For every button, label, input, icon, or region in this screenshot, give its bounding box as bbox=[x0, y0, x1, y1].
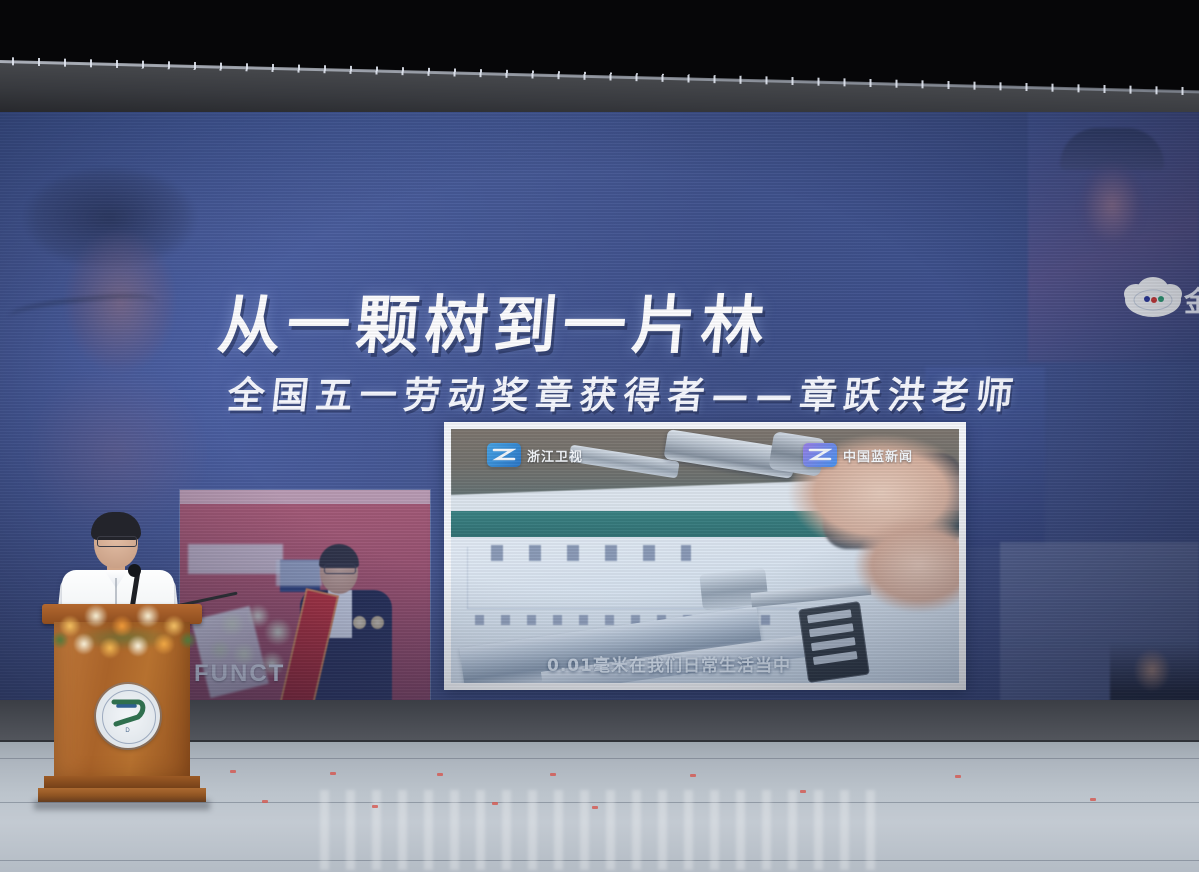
podium-shadow bbox=[34, 800, 210, 810]
stage-scene: 从一颗树到一片林 全国五一劳动奖章获得者——章跃洪老师 金 bbox=[0, 0, 1199, 872]
worker-face bbox=[1058, 130, 1166, 280]
confetti bbox=[492, 802, 498, 805]
podium-emblem: D bbox=[96, 684, 160, 748]
podium-flowers bbox=[52, 596, 200, 662]
confetti bbox=[230, 770, 236, 773]
microphone-head-icon bbox=[128, 564, 141, 577]
confetti bbox=[955, 775, 961, 778]
news-clip-card: 浙江卫视 中国蓝新闻 0.01毫米在我们日常生活当中 bbox=[444, 422, 966, 690]
confetti bbox=[690, 774, 696, 777]
confetti bbox=[437, 773, 443, 776]
confetti bbox=[372, 805, 378, 808]
confetti bbox=[550, 773, 556, 776]
confetti bbox=[592, 806, 598, 809]
cloud-icon bbox=[1122, 274, 1184, 322]
confetti bbox=[1090, 798, 1096, 801]
institution-crest-icon bbox=[108, 697, 148, 729]
presenter-glasses-icon bbox=[97, 536, 137, 547]
headline-block: 从一颗树到一片林 全国五一劳动奖章获得者——章跃洪老师 bbox=[218, 294, 1020, 419]
floor-reflection bbox=[320, 790, 880, 870]
confetti bbox=[262, 800, 268, 803]
confetti bbox=[800, 790, 806, 793]
page-title: 从一颗树到一片林 bbox=[215, 294, 1023, 357]
news-clip-frame: 浙江卫视 中国蓝新闻 0.01毫米在我们日常生活当中 bbox=[451, 429, 959, 683]
corner-logo-label: 金 bbox=[1184, 280, 1199, 320]
confetti bbox=[330, 772, 336, 775]
clip-haze-overlay bbox=[451, 429, 959, 683]
technician-figure bbox=[1110, 642, 1199, 708]
podium-emblem-text: D bbox=[96, 728, 160, 734]
speaker-podium: D bbox=[48, 604, 196, 808]
page-subtitle: 全国五一劳动奖章获得者——章跃洪老师 bbox=[225, 365, 1023, 419]
